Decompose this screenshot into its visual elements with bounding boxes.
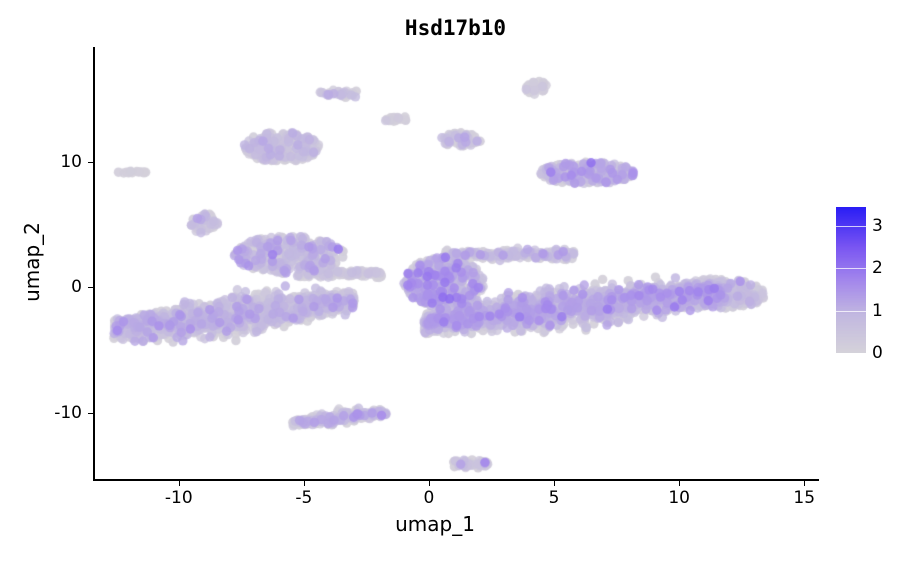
x-tick-label: 15 bbox=[774, 488, 834, 508]
colorbar-tick-label: 1 bbox=[872, 303, 883, 320]
x-tick bbox=[554, 481, 555, 486]
x-axis-label: umap_1 bbox=[0, 512, 870, 536]
colorbar-gradient bbox=[836, 207, 866, 353]
x-tick bbox=[179, 481, 180, 486]
y-tick-label: -10 bbox=[32, 403, 82, 423]
colorbar-legend[interactable]: 0123 bbox=[836, 207, 906, 357]
colorbar-tick-label: 2 bbox=[872, 260, 883, 277]
x-tick bbox=[679, 481, 680, 486]
x-tick bbox=[429, 481, 430, 486]
y-tick bbox=[88, 287, 93, 288]
x-tick-label: 5 bbox=[524, 488, 584, 508]
umap-feature-plot: Hsd17b10 -10-5051015100-10 umap_1 umap_2… bbox=[0, 0, 911, 562]
y-axis-label: umap_2 bbox=[20, 152, 44, 372]
x-axis-spine bbox=[93, 479, 819, 481]
scatter-plot-area[interactable] bbox=[95, 48, 818, 479]
colorbar-tick bbox=[836, 311, 866, 312]
colorbar-tick bbox=[836, 353, 866, 354]
colorbar-tick-label: 3 bbox=[872, 218, 883, 235]
x-tick-label: -5 bbox=[274, 488, 334, 508]
x-tick-label: -10 bbox=[149, 488, 209, 508]
x-tick-label: 10 bbox=[649, 488, 709, 508]
x-tick bbox=[304, 481, 305, 486]
y-tick bbox=[88, 413, 93, 414]
colorbar-tick bbox=[836, 268, 866, 269]
colorbar-tick-label: 0 bbox=[872, 345, 883, 362]
x-tick bbox=[804, 481, 805, 486]
page-title: Hsd17b10 bbox=[0, 16, 911, 40]
x-tick-label: 0 bbox=[399, 488, 459, 508]
y-tick bbox=[88, 162, 93, 163]
colorbar-tick bbox=[836, 226, 866, 227]
